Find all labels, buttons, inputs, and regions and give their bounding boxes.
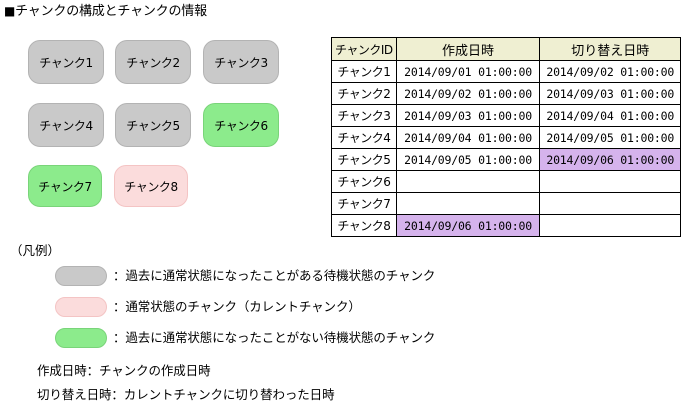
- table-row: チャンク7: [332, 193, 681, 215]
- cell-switched-datetime: 2014/09/02 01:00:00: [540, 61, 681, 83]
- chunk-map: チャンク1チャンク2チャンク3チャンク4チャンク5チャンク6チャンク7チャンク8: [0, 0, 330, 235]
- chunk-box-3: チャンク3: [203, 40, 279, 84]
- table-row: チャンク32014/09/03 01:00:002014/09/04 01:00…: [332, 105, 681, 127]
- table-row: チャンク22014/09/02 01:00:002014/09/03 01:00…: [332, 83, 681, 105]
- cell-chunk-id: チャンク2: [332, 83, 397, 105]
- table-row: チャンク82014/09/06 01:00:00: [332, 215, 681, 237]
- cell-created-datetime: 2014/09/05 01:00:00: [396, 149, 540, 171]
- cell-switched-datetime: [540, 193, 681, 215]
- chunk-box-label: チャンク3: [214, 54, 268, 71]
- cell-created-datetime: 2014/09/02 01:00:00: [396, 83, 540, 105]
- legend-item-label: ：通常状態のチャンク（カレントチャンク）: [113, 299, 361, 315]
- column-header-created-datetime: 作成日時: [396, 38, 540, 61]
- table-header-row: チャンクID 作成日時 切り替え日時: [332, 38, 681, 61]
- chunk-box-1: チャンク1: [28, 40, 104, 84]
- cell-created-datetime: 2014/09/03 01:00:00: [396, 105, 540, 127]
- cell-created-datetime: 2014/09/01 01:00:00: [396, 61, 540, 83]
- chunk-box-4: チャンク4: [28, 103, 104, 147]
- chunk-box-label: チャンク2: [126, 54, 180, 71]
- cell-chunk-id: チャンク7: [332, 193, 397, 215]
- legend-item-green: ：過去に通常状態になったことがない待機状態のチャンク: [55, 328, 435, 348]
- column-header-switched-datetime: 切り替え日時: [540, 38, 681, 61]
- legend-title: （凡例）: [10, 240, 60, 259]
- legend-note-2: 切り替え日時：カレントチャンクに切り替わった日時: [37, 384, 334, 403]
- cell-chunk-id: チャンク6: [332, 171, 397, 193]
- table-row: チャンク12014/09/01 01:00:002014/09/02 01:00…: [332, 61, 681, 83]
- chunk-box-label: チャンク5: [126, 117, 180, 134]
- chunk-box-label: チャンク6: [214, 117, 268, 134]
- cell-created-datetime: [396, 171, 540, 193]
- legend-note-1: 作成日時：チャンクの作成日時: [37, 360, 210, 379]
- cell-switched-datetime: 2014/09/06 01:00:00: [540, 149, 681, 171]
- chunk-box-label: チャンク4: [39, 117, 93, 134]
- cell-switched-datetime: [540, 215, 681, 237]
- legend-item-pink: ：通常状態のチャンク（カレントチャンク）: [55, 297, 361, 317]
- cell-chunk-id: チャンク5: [332, 149, 397, 171]
- chunk-box-label: チャンク7: [38, 178, 92, 195]
- cell-chunk-id: チャンク8: [332, 215, 397, 237]
- chunk-box-5: チャンク5: [115, 103, 191, 147]
- chunk-box-label: チャンク1: [39, 54, 93, 71]
- cell-switched-datetime: 2014/09/04 01:00:00: [540, 105, 681, 127]
- chunk-box-8: チャンク8: [114, 165, 188, 207]
- legend-swatch-gray: [55, 266, 107, 286]
- cell-switched-datetime: 2014/09/03 01:00:00: [540, 83, 681, 105]
- legend-item-label: ：過去に通常状態になったことがない待機状態のチャンク: [113, 330, 435, 346]
- chunk-info-table: チャンクID 作成日時 切り替え日時 チャンク12014/09/01 01:00…: [331, 37, 681, 237]
- legend-swatch-pink: [55, 297, 107, 317]
- cell-chunk-id: チャンク4: [332, 127, 397, 149]
- cell-created-datetime: [396, 193, 540, 215]
- cell-chunk-id: チャンク1: [332, 61, 397, 83]
- cell-switched-datetime: 2014/09/05 01:00:00: [540, 127, 681, 149]
- chunk-box-label: チャンク8: [124, 178, 178, 195]
- chunk-box-2: チャンク2: [115, 40, 191, 84]
- column-header-chunk-id: チャンクID: [332, 38, 397, 61]
- table-row: チャンク6: [332, 171, 681, 193]
- cell-created-datetime: 2014/09/06 01:00:00: [396, 215, 540, 237]
- table-row: チャンク42014/09/04 01:00:002014/09/05 01:00…: [332, 127, 681, 149]
- chunk-box-7: チャンク7: [28, 165, 102, 207]
- table-row: チャンク52014/09/05 01:00:002014/09/06 01:00…: [332, 149, 681, 171]
- cell-chunk-id: チャンク3: [332, 105, 397, 127]
- legend-item-gray: ：過去に通常状態になったことがある待機状態のチャンク: [55, 266, 435, 286]
- legend-swatch-green: [55, 328, 107, 348]
- cell-created-datetime: 2014/09/04 01:00:00: [396, 127, 540, 149]
- chunk-box-6: チャンク6: [203, 103, 279, 147]
- legend-item-label: ：過去に通常状態になったことがある待機状態のチャンク: [113, 268, 435, 284]
- cell-switched-datetime: [540, 171, 681, 193]
